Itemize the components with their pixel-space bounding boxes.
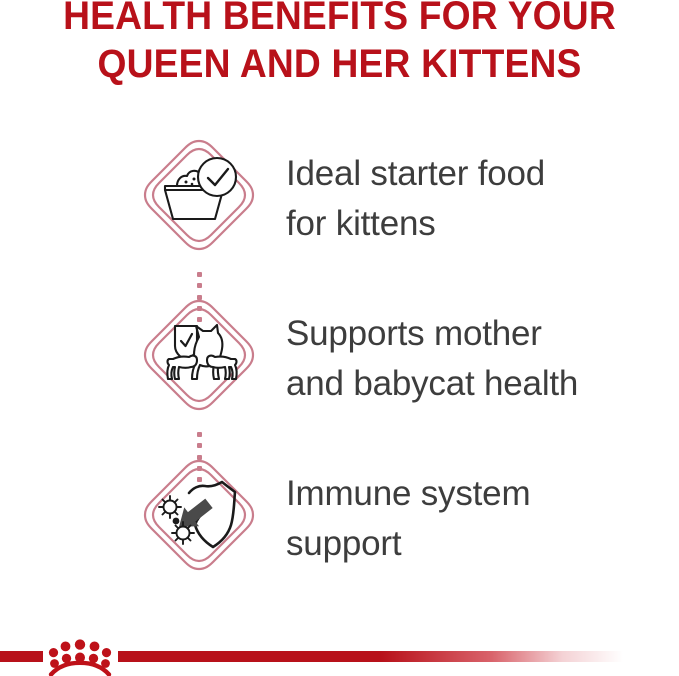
mother-cat-kitten-shield-icon [139, 295, 259, 435]
benefit-label-line-1: Supports mother [286, 309, 656, 359]
brand-footer [0, 620, 679, 676]
page-title-line-2: QUEEN AND HER KITTENS [24, 40, 655, 88]
benefit-item: Immune system support [0, 455, 679, 595]
connector-dot [197, 443, 202, 448]
benefit-label-line-2: for kittens [286, 199, 656, 249]
royal-canin-crown-emblem [44, 639, 116, 676]
benefit-label-line-2: support [286, 519, 656, 569]
connector-dot [197, 432, 202, 437]
benefit-label: Supports mother and babycat health [286, 309, 656, 409]
connector-dot [197, 283, 202, 288]
footer-bar-right-segment [118, 651, 623, 662]
benefit-label: Ideal starter food for kittens [286, 149, 656, 249]
page-title-line-1: HEALTH BENEFITS FOR YOUR [24, 0, 655, 40]
food-bowl-check-icon [139, 135, 259, 275]
health-benefits-infographic: HEALTH BENEFITS FOR YOUR QUEEN AND HER K… [0, 0, 679, 676]
shield-germ-defense-icon [139, 455, 259, 595]
page-title: HEALTH BENEFITS FOR YOUR QUEEN AND HER K… [24, 0, 655, 88]
benefit-item: Ideal starter food for kittens [0, 135, 679, 275]
benefit-label-line-1: Immune system [286, 469, 656, 519]
benefit-label-line-2: and babycat health [286, 359, 656, 409]
connector-dot [197, 272, 202, 277]
benefit-label-line-1: Ideal starter food [286, 149, 656, 199]
benefit-item: Supports mother and babycat health [0, 295, 679, 435]
footer-bar-left-segment [0, 651, 43, 662]
benefit-label: Immune system support [286, 469, 656, 569]
